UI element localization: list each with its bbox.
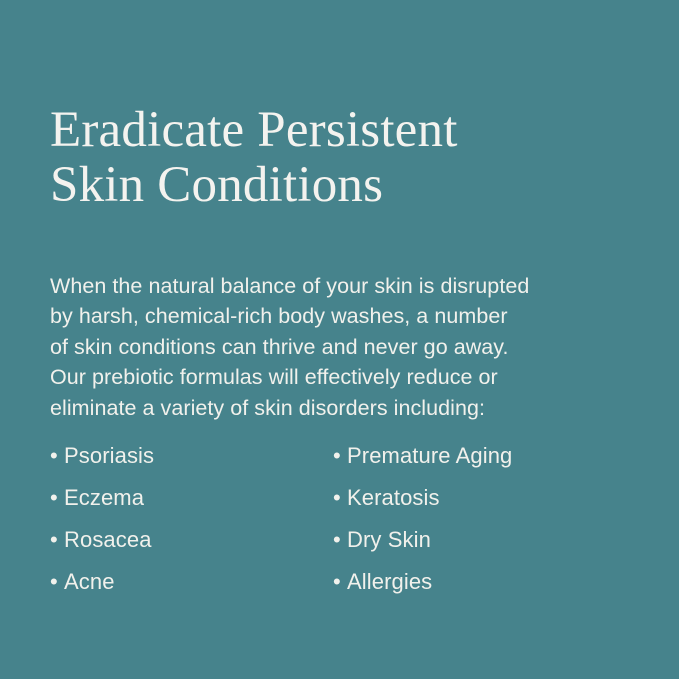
condition-label: Psoriasis — [64, 443, 154, 469]
conditions-column-right: • Premature Aging • Keratosis • Dry Skin… — [333, 443, 623, 611]
list-item: • Acne — [50, 569, 333, 611]
bullet-icon: • — [50, 485, 64, 511]
list-item: • Dry Skin — [333, 527, 623, 569]
list-item: • Eczema — [50, 485, 333, 527]
list-item: • Allergies — [333, 569, 623, 611]
condition-label: Dry Skin — [347, 527, 431, 553]
conditions-column-left: • Psoriasis • Eczema • Rosacea • Acne — [50, 443, 333, 611]
condition-label: Eczema — [64, 485, 144, 511]
bullet-icon: • — [333, 527, 347, 553]
condition-label: Premature Aging — [347, 443, 512, 469]
bullet-icon: • — [333, 569, 347, 595]
bullet-icon: • — [333, 443, 347, 469]
list-item: • Premature Aging — [333, 443, 623, 485]
promo-card: Eradicate Persistent Skin Conditions Whe… — [0, 0, 679, 679]
bullet-icon: • — [50, 527, 64, 553]
condition-label: Rosacea — [64, 527, 152, 553]
list-item: • Rosacea — [50, 527, 333, 569]
list-item: • Psoriasis — [50, 443, 333, 485]
bullet-icon: • — [50, 569, 64, 595]
list-item: • Keratosis — [333, 485, 623, 527]
condition-label: Acne — [64, 569, 115, 595]
conditions-list: • Psoriasis • Eczema • Rosacea • Acne • … — [50, 443, 630, 611]
intro-paragraph: When the natural balance of your skin is… — [50, 271, 625, 423]
condition-label: Keratosis — [347, 485, 440, 511]
bullet-icon: • — [50, 443, 64, 469]
page-title: Eradicate Persistent Skin Conditions — [50, 103, 630, 213]
condition-label: Allergies — [347, 569, 432, 595]
bullet-icon: • — [333, 485, 347, 511]
